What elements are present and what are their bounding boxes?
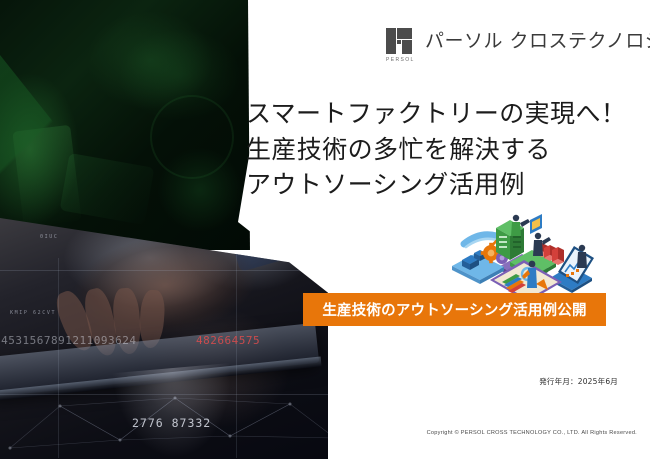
machine-silhouette xyxy=(12,125,81,227)
isometric-smart-factory-illustration xyxy=(444,206,596,298)
brand-name: パーソル クロステクノロジー xyxy=(425,28,650,54)
illustration-graphic xyxy=(444,206,596,298)
persol-square-mark-icon: PERSOL xyxy=(386,28,412,54)
highlight-banner-text: 生産技術のアウトソーシング活用例公開 xyxy=(322,299,586,320)
cover-page: 0IUC KMIP 62CVT 64531567891211093624 482… xyxy=(0,0,650,459)
title-line-3: アウトソーシング活用例 xyxy=(246,167,638,203)
machine-silhouette xyxy=(150,95,234,179)
industrial-robot-arm-photo xyxy=(0,0,250,250)
person-figure xyxy=(577,245,587,268)
person-figure xyxy=(511,215,530,236)
overlay-gridline xyxy=(0,270,300,271)
white-edge-strip xyxy=(328,0,340,459)
highlight-banner: 生産技術のアウトソーシング活用例公開 xyxy=(303,293,606,326)
overlay-code-text: 0IUC xyxy=(40,234,58,240)
overlay-number-red: 482664575 xyxy=(196,334,260,347)
photo-collage: 0IUC KMIP 62CVT 64531567891211093624 482… xyxy=(0,0,340,459)
machine-silhouette xyxy=(60,153,155,225)
page-title: スマートファクトリーの実現へ！ 生産技術の多忙を解決する アウトソーシング活用例 xyxy=(246,96,638,203)
logo-caption: PERSOL xyxy=(386,57,415,63)
title-line-1: スマートファクトリーの実現へ！ xyxy=(246,96,638,132)
overlay-code-text: KMIP 62CVT xyxy=(10,310,56,316)
overlay-number-long: 64531567891211093624 xyxy=(0,334,136,347)
title-line-2: 生産技術の多忙を解決する xyxy=(246,132,638,168)
copyright-notice: Copyright © PERSOL CROSS TECHNOLOGY CO.,… xyxy=(427,430,637,436)
issue-date: 発行年月：2025年6月 xyxy=(539,376,618,387)
brand-logo: PERSOL パーソル クロステクノロジー xyxy=(386,28,650,54)
overlay-number: 2776 87332 xyxy=(132,416,211,430)
